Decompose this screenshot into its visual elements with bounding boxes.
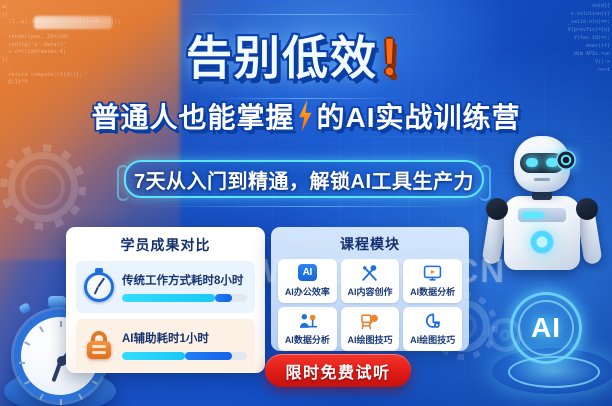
decor-line-3 <box>150 206 470 207</box>
module-label-4: AI绘图技巧 <box>347 333 392 346</box>
ai-hologram: AI <box>496 286 612 404</box>
decor-line-1 <box>180 14 430 15</box>
shape-gear-icon <box>423 312 442 331</box>
modules-card-title: 课程模块 <box>278 234 462 254</box>
poster-canvas: a( ){ (1..n).forEach(i=>{if(i%3==0)c(j)}… <box>0 0 612 406</box>
modules-card: 课程模块 AI AI办公效率 AI内容创作 <box>271 227 469 351</box>
robot-eye-left <box>526 158 538 167</box>
robot-ear-module <box>556 150 576 170</box>
stopwatch-button-left <box>18 302 31 315</box>
gear-teeth-left <box>0 144 86 230</box>
user-chart-icon <box>298 312 317 331</box>
robot-torso <box>504 196 580 270</box>
module-label-5: AI绘图技巧 <box>410 333 455 346</box>
lock-icon <box>84 330 114 360</box>
module-label-3: AI数据分析 <box>285 333 330 346</box>
stat-row-traditional: 传统工作方式耗时8小时 <box>76 261 255 313</box>
progress-bar-traditional <box>122 294 247 302</box>
cta-label: 限时免费试听 <box>285 359 390 383</box>
clock-icon <box>84 272 114 302</box>
headline-block: 告别低效！ <box>0 22 612 88</box>
progress-bar-ai <box>122 352 247 360</box>
tagline-text: 7天从入门到精通，解锁AI工具生产力 <box>134 165 474 194</box>
module-tile-ai-draw-2[interactable]: AI绘图技巧 <box>403 307 462 351</box>
subline-part-2: 的AI实战训练营 <box>317 96 521 136</box>
tagline-pill: 7天从入门到精通，解锁AI工具生产力 <box>124 160 484 198</box>
robot-shoulder-right <box>576 198 598 220</box>
module-tile-ai-office[interactable]: AI AI办公效率 <box>278 259 337 303</box>
cta-button[interactable]: 限时免费试听 <box>265 354 411 387</box>
pen-brush-icon <box>360 264 379 283</box>
stat-body-traditional: 传统工作方式耗时8小时 <box>122 272 247 302</box>
robot-head <box>514 136 570 192</box>
stat-row-ai: AI辅助耗时1小时 <box>76 319 255 371</box>
stat-body-ai: AI辅助耗时1小时 <box>122 330 247 360</box>
subline-part-1: 普通人也能掌握 <box>91 96 294 136</box>
subline-main: 普通人也能掌握的AI实战训练营 <box>91 96 520 136</box>
headline-main: 告别低效！ <box>186 22 426 88</box>
module-label-2: AI数据分析 <box>410 285 455 298</box>
headline-exclamation: ！ <box>378 32 426 84</box>
modules-grid: AI AI办公效率 AI内容创作 <box>278 259 462 351</box>
robot-core-light <box>530 230 554 254</box>
results-card-title: 学员成果对比 <box>76 235 255 255</box>
module-label-0: AI办公效率 <box>285 285 330 298</box>
module-label-1: AI内容创作 <box>347 285 392 298</box>
robot-shoulder-left <box>486 198 508 220</box>
hologram-ai-label: AI <box>510 292 582 364</box>
headline-text: 告别低效 <box>186 32 378 84</box>
monitor-play-icon <box>423 264 442 283</box>
module-tile-ai-draw-1[interactable]: AI绘图技巧 <box>341 307 400 351</box>
lightning-bolt-icon <box>296 100 316 132</box>
stat-label-ai: AI辅助耗时1小时 <box>122 330 247 346</box>
results-card: 学员成果对比 传统工作方式耗时8小时 AI辅助耗 <box>66 227 265 373</box>
ai-badge-icon: AI <box>298 264 317 283</box>
stat-label-traditional: 传统工作方式耗时8小时 <box>122 272 247 288</box>
robot-mouth <box>534 178 550 181</box>
subline-block: 普通人也能掌握的AI实战训练营 <box>0 96 612 136</box>
module-tile-ai-content[interactable]: AI内容创作 <box>341 259 400 303</box>
module-tile-ai-data-2[interactable]: AI数据分析 <box>278 307 337 351</box>
module-tile-ai-data-1[interactable]: AI数据分析 <box>403 259 462 303</box>
stopwatch-crown <box>48 296 66 308</box>
easel-paint-icon <box>360 312 379 331</box>
robot-chest-panel <box>518 208 566 222</box>
